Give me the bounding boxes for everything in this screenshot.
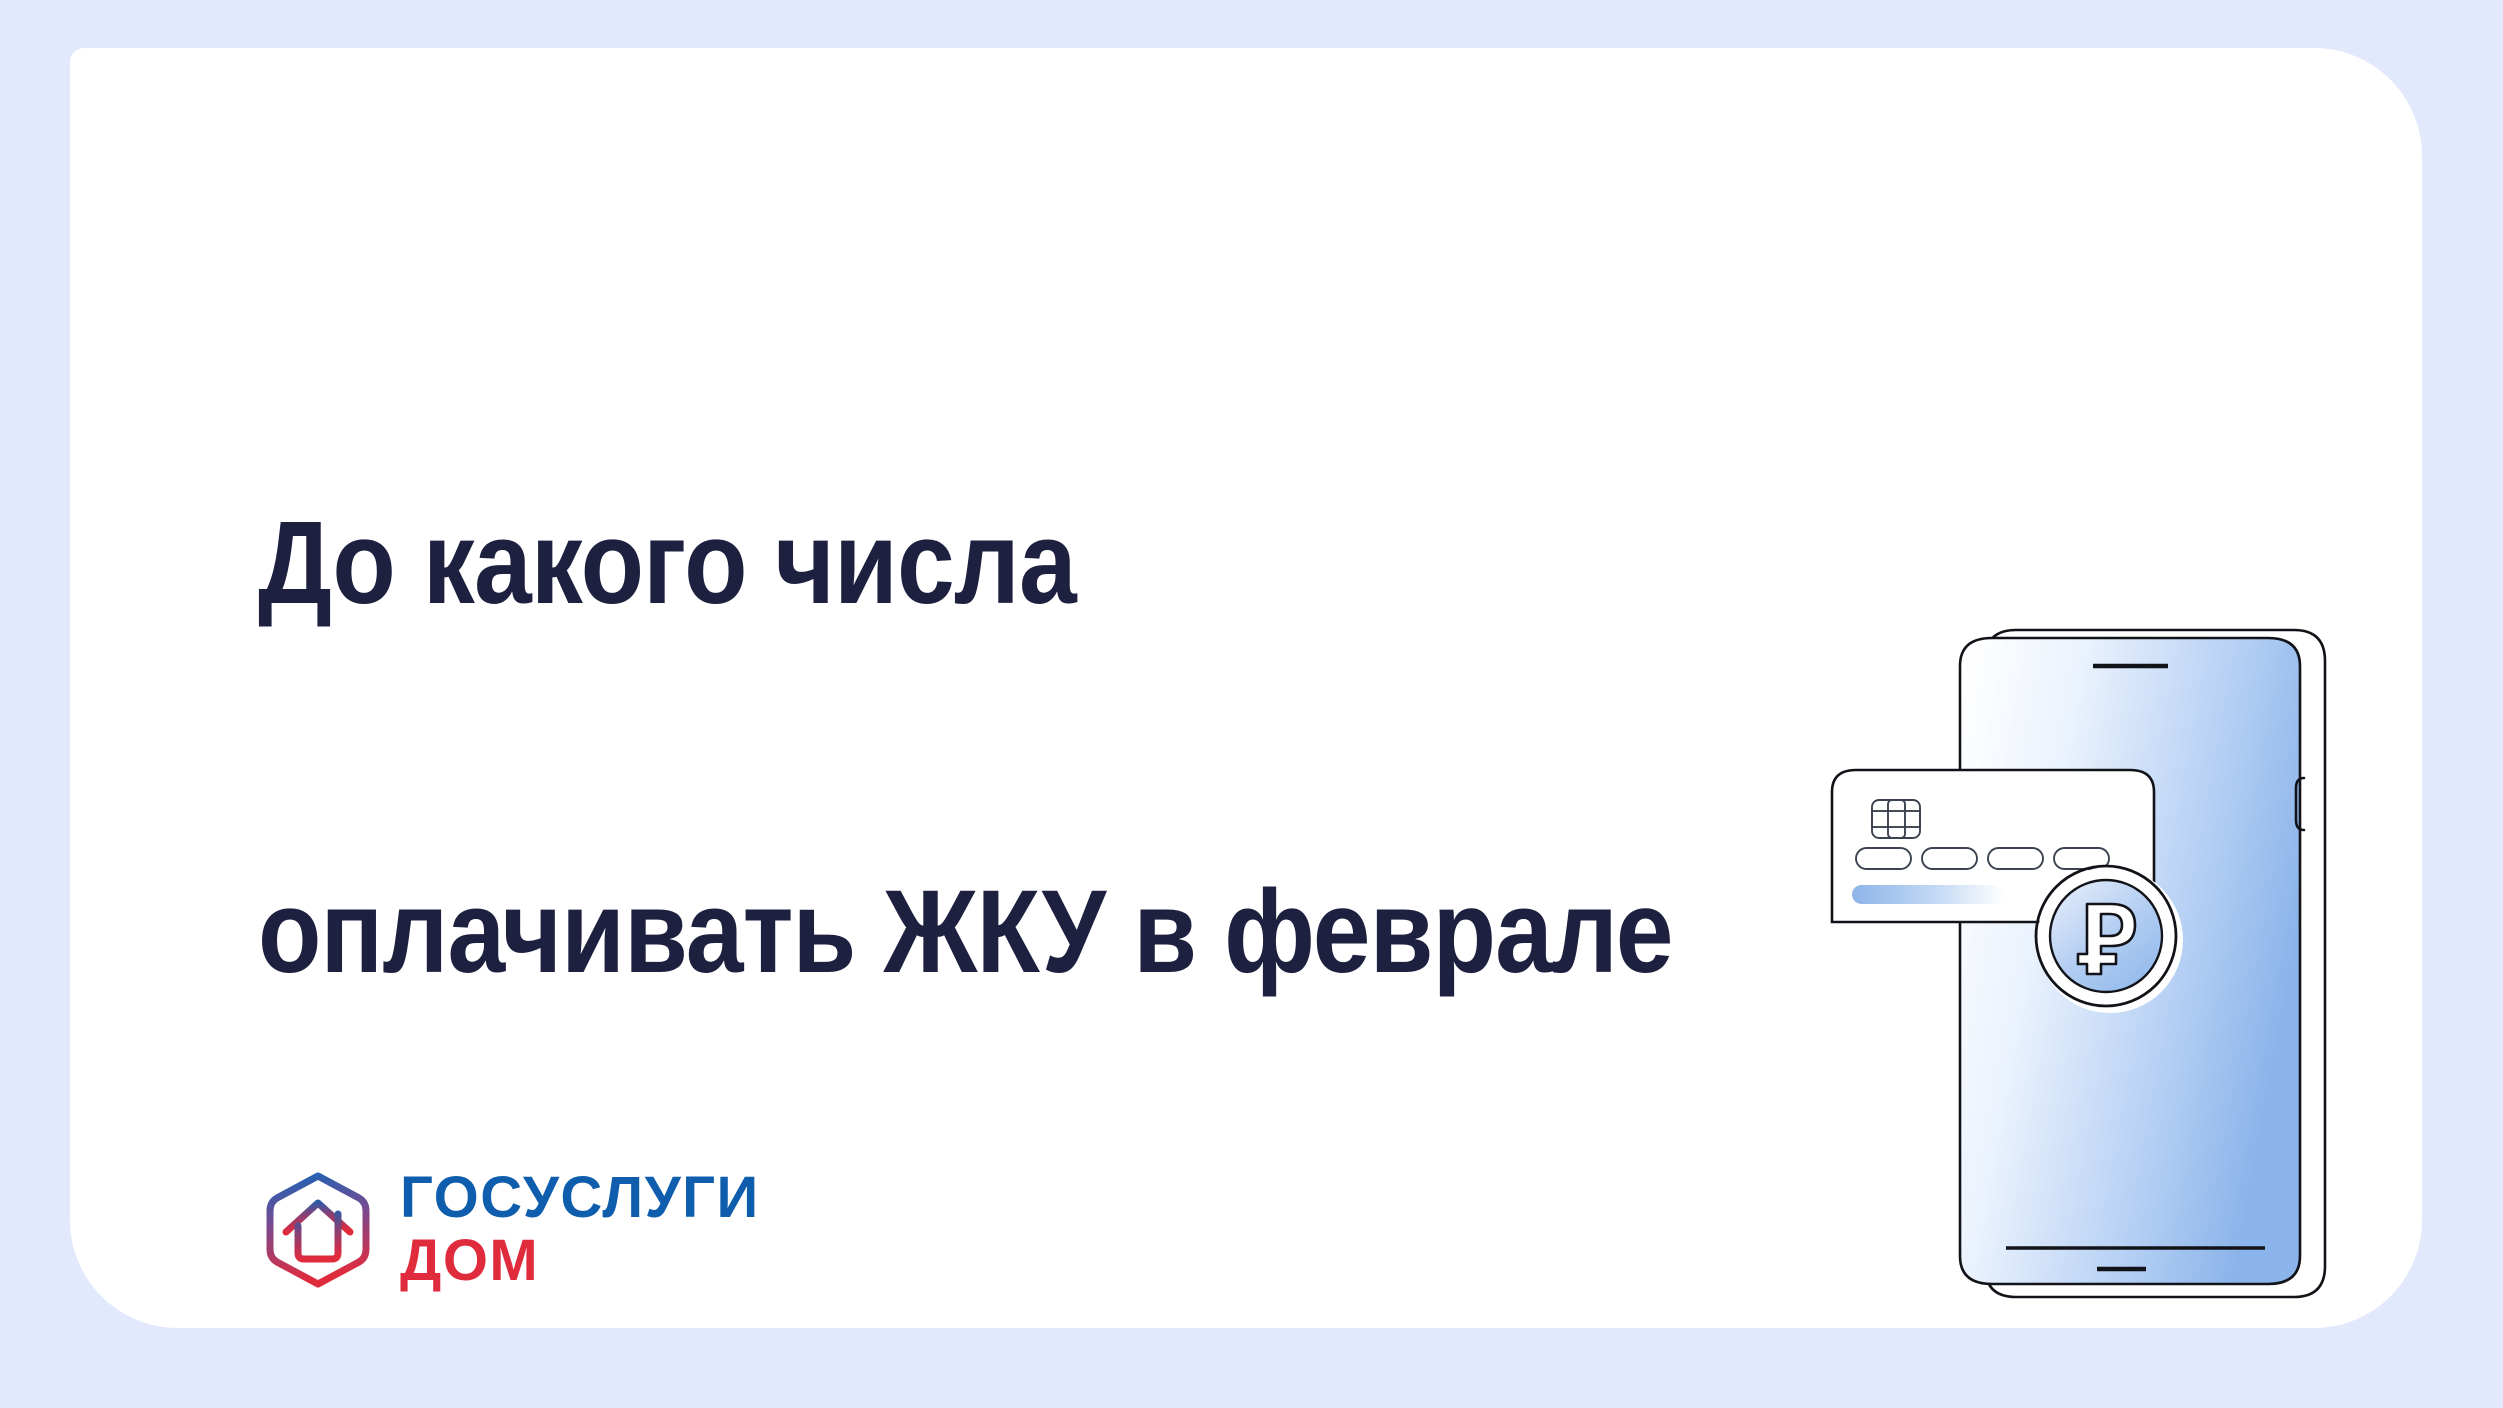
gosuslugi-dom-house-hexagon-icon xyxy=(258,1170,378,1290)
page-title: До какого числа оплачивать ЖКУ в феврале xyxy=(258,257,1754,1239)
white-content-card: До какого числа оплачивать ЖКУ в феврале xyxy=(70,48,2422,1328)
brand-logo: ГОСУСЛУГИ ДОМ xyxy=(258,1170,760,1290)
brand-name-gosuslugi: ГОСУСЛУГИ xyxy=(400,1170,760,1227)
brand-name-dom: ДОМ xyxy=(400,1233,760,1290)
card-stripe xyxy=(1852,885,2004,904)
headline-line-2: оплачивать ЖКУ в феврале xyxy=(258,871,1754,994)
headline-line-1: До какого числа xyxy=(258,502,1754,625)
brand-logo-wordmark: ГОСУСЛУГИ ДОМ xyxy=(400,1170,760,1290)
phone-card-ruble-coin-illustration xyxy=(1810,608,2370,1328)
poster-canvas: До какого числа оплачивать ЖКУ в феврале xyxy=(0,0,2503,1408)
